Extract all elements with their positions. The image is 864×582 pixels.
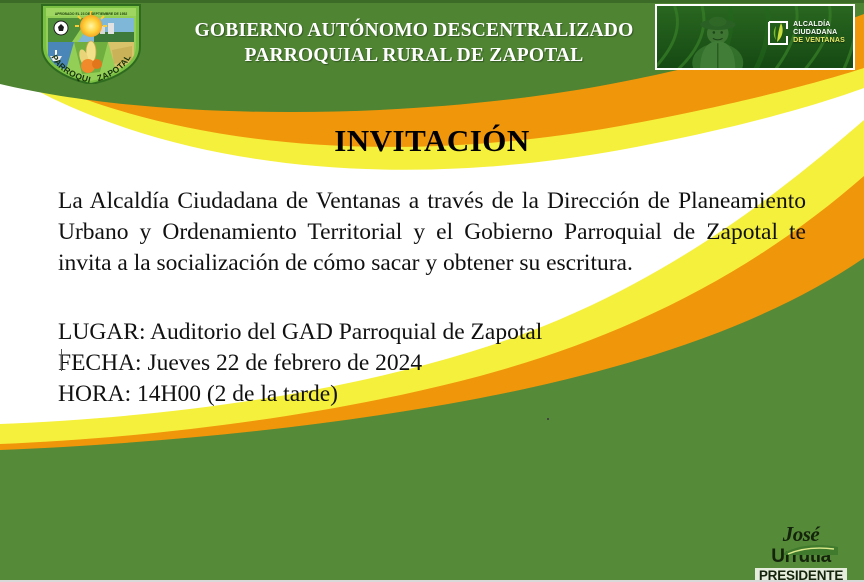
text-cursor bbox=[61, 349, 62, 371]
brand-line-3: DE VENTANAS bbox=[793, 37, 845, 45]
detail-row-lugar: LUGAR: Auditorio del GAD Parroquial de Z… bbox=[58, 317, 864, 348]
invitation-paragraph: La Alcaldía Ciudadana de Ventanas a trav… bbox=[58, 186, 806, 279]
invitation-details: LUGAR: Auditorio del GAD Parroquial de Z… bbox=[58, 317, 864, 410]
brand-line-2: CIUDADANA bbox=[793, 29, 845, 37]
alcaldia-brand-text: ALCALDÍA CIUDADANA DE VENTANAS bbox=[793, 21, 845, 46]
header-title-line-1: GOBIERNO AUTÓNOMO DESCENTRALIZADO bbox=[176, 18, 652, 43]
emblem-text-aprobado: APROBADO EL 23 DE SEPTIEMBRE DE 1952 bbox=[55, 12, 128, 16]
invitation-title: INVITACIÓN bbox=[0, 123, 864, 159]
alcaldia-leaf-icon bbox=[767, 20, 789, 46]
detail-value-fecha: Jueves 22 de febrero de 2024 bbox=[147, 350, 422, 376]
bottom-yellow-band bbox=[0, 424, 864, 582]
signature-first-name: José bbox=[783, 524, 820, 544]
signature-jose-urrutia: José Urrutia PRESIDENTE bbox=[748, 524, 854, 578]
alcaldia-brand-lockup: ALCALDÍA CIUDADANA DE VENTANAS bbox=[767, 20, 845, 46]
invitation-poster: PARROQUIA ZAPOTAL APROBADO EL 23 DE SEPT… bbox=[0, 0, 864, 582]
header-photo-alcaldia: ALCALDÍA CIUDADANA DE VENTANAS bbox=[655, 4, 855, 70]
detail-row-fecha: FECHA: Jueves 22 de febrero de 2024 bbox=[58, 348, 864, 379]
invitation-content: INVITACIÓN La Alcaldía Ciudadana de Vent… bbox=[0, 100, 864, 410]
detail-label-hora: HORA: bbox=[58, 381, 131, 407]
brand-line-1: ALCALDÍA bbox=[793, 21, 845, 29]
detail-value-hora: 14H00 (2 de la tarde) bbox=[137, 381, 338, 407]
emblem-parroquia-zapotal: PARROQUIA ZAPOTAL APROBADO EL 23 DE SEPT… bbox=[28, 2, 154, 84]
header-title: GOBIERNO AUTÓNOMO DESCENTRALIZADO PARROQ… bbox=[176, 18, 652, 68]
detail-row-hora: HORA: 14H00 (2 de la tarde) bbox=[58, 379, 864, 410]
detail-label-lugar: LUGAR: bbox=[58, 319, 145, 345]
detail-label-fecha: FECHA: bbox=[58, 350, 142, 376]
detail-value-lugar: Auditorio del GAD Parroquial de Zapotal bbox=[150, 319, 542, 345]
stray-period-mark bbox=[547, 418, 549, 420]
header-title-line-2: PARROQUIAL RURAL DE ZAPOTAL bbox=[176, 43, 652, 68]
signature-swoosh-icon bbox=[784, 544, 838, 555]
